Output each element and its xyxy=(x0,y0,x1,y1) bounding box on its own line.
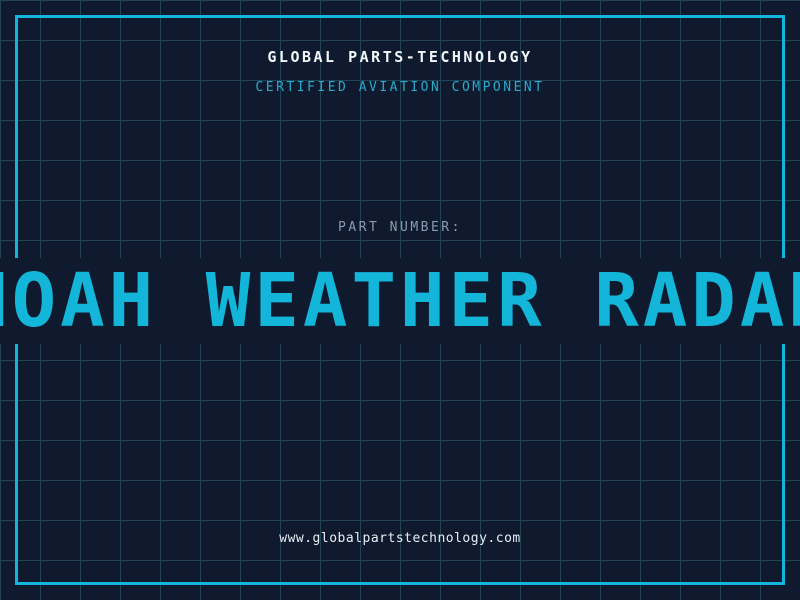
part-number-band: NOAH WEATHER RADAR xyxy=(0,258,800,344)
brand-subtitle: CERTIFIED AVIATION COMPONENT xyxy=(0,80,800,95)
part-number-value: NOAH WEATHER RADAR xyxy=(0,264,800,338)
part-number-card: GLOBAL PARTS-TECHNOLOGY CERTIFIED AVIATI… xyxy=(0,0,800,600)
website-url: www.globalpartstechnology.com xyxy=(0,531,800,546)
brand-title: GLOBAL PARTS-TECHNOLOGY xyxy=(0,48,800,66)
part-number-label: PART NUMBER: xyxy=(0,220,800,235)
